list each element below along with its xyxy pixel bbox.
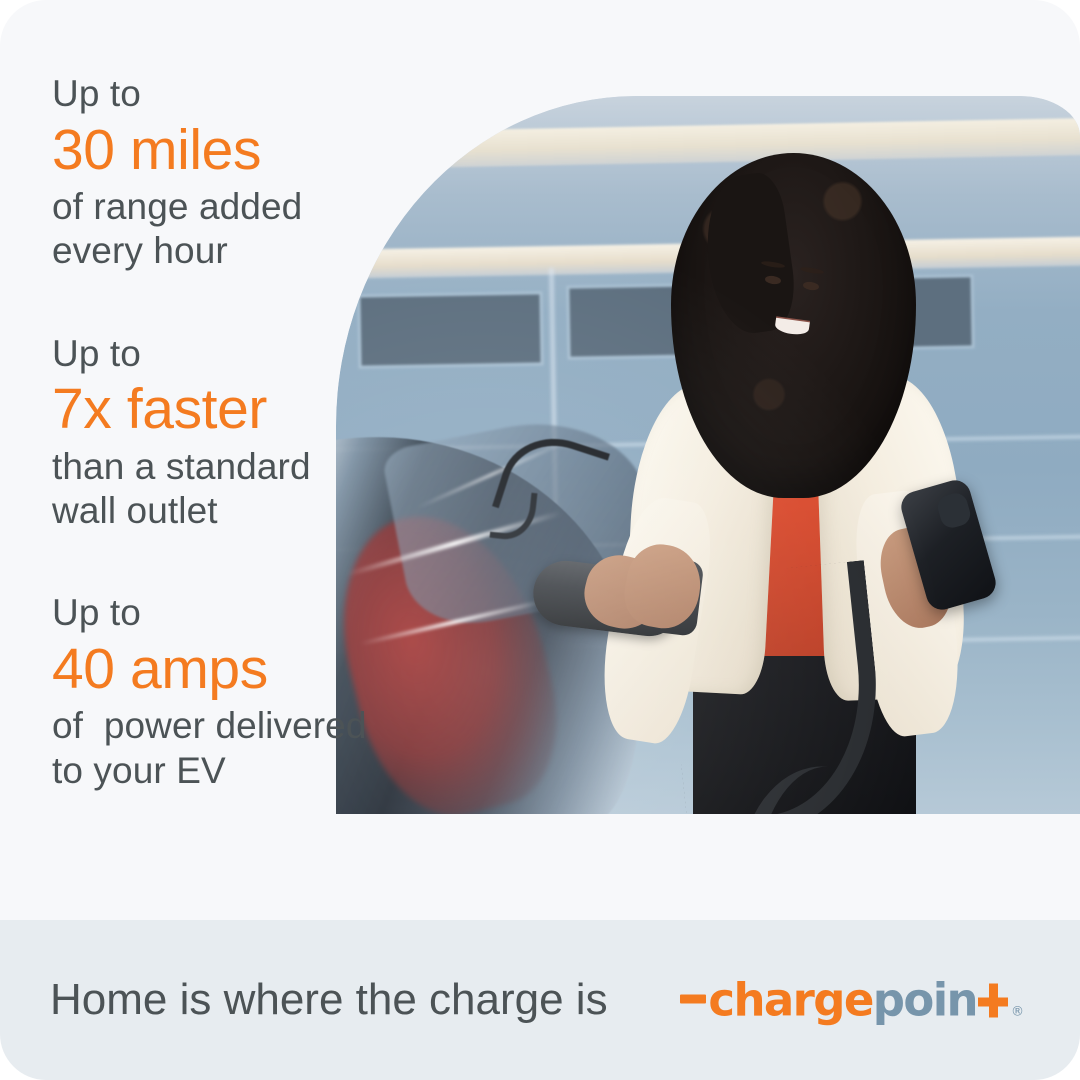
stat-prefix-range: Up to xyxy=(52,72,472,116)
logo-text-charge: charge xyxy=(708,978,872,1023)
stat-prefix-speed: Up to xyxy=(52,332,472,376)
stat-block-range: Up to 30 miles of range added every hour xyxy=(52,72,472,274)
stats-list: Up to 30 miles of range added every hour… xyxy=(52,72,472,793)
logo-registered-mark: ® xyxy=(1011,1005,1024,1020)
promo-card: Up to 30 miles of range added every hour… xyxy=(0,0,1080,1080)
stat-suffix-speed: than a standard wall outlet xyxy=(52,445,472,534)
stat-value-range: 30 miles xyxy=(52,117,472,184)
footer-band: Home is where the charge is charge poin … xyxy=(0,920,1080,1080)
main-panel: Up to 30 miles of range added every hour… xyxy=(0,0,1080,920)
tagline: Home is where the charge is xyxy=(50,975,608,1025)
logo-text-poin: poin xyxy=(873,978,977,1023)
stat-block-speed: Up to 7x faster than a standard wall out… xyxy=(52,332,472,534)
stat-block-amps: Up to 40 amps of power delivered to your… xyxy=(52,591,472,793)
stat-value-speed: 7x faster xyxy=(52,376,472,443)
stat-suffix-amps: of power delivered to your EV xyxy=(52,704,472,793)
chargepoint-logo[interactable]: charge poin ® xyxy=(680,978,1024,1023)
stat-value-amps: 40 amps xyxy=(52,636,472,703)
stat-suffix-range: of range added every hour xyxy=(52,185,472,274)
logo-plus-t-icon xyxy=(978,983,1008,1017)
stat-prefix-amps: Up to xyxy=(52,591,472,635)
logo-dash-icon xyxy=(680,995,706,1004)
